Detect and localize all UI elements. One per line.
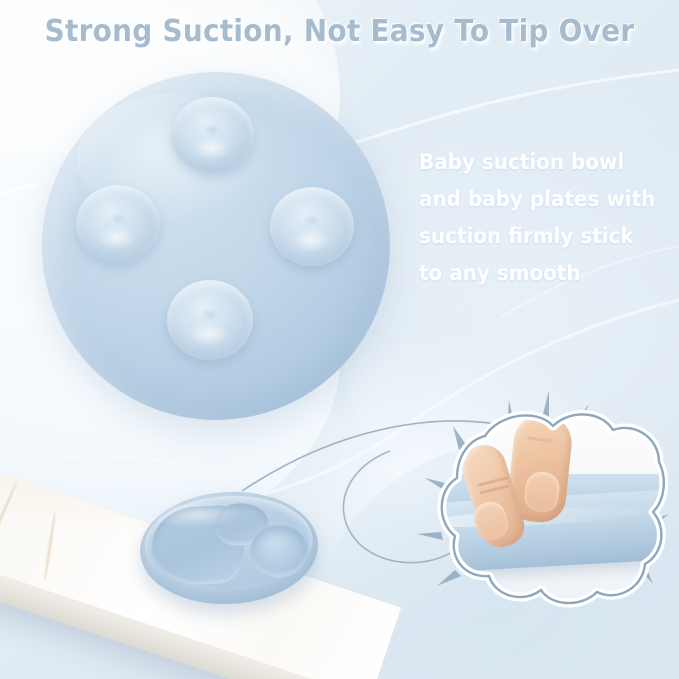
suction-cup-right: [270, 187, 354, 266]
suction-cup-top: [171, 97, 254, 173]
burst-ray: [437, 570, 461, 586]
product-image-canvas: Strong Suction, Not Easy To Tip Over Bab…: [0, 0, 679, 679]
divided-baby-plate: [137, 487, 321, 608]
page-title: Strong Suction, Not Easy To Tip Over: [24, 14, 655, 49]
burst-ray: [417, 532, 443, 540]
marble-vein: [0, 481, 18, 568]
burst-ray: [453, 426, 467, 450]
suction-cup-left: [76, 185, 160, 263]
suction-cup-bottom: [167, 280, 253, 360]
body-copy-line-4: to any smooth: [419, 255, 661, 292]
cloud-callout-bubble: [405, 398, 679, 628]
body-copy-line-1: Baby suction bowl: [419, 144, 661, 181]
body-copy-line-2: and baby plates with: [419, 181, 661, 218]
burst-ray: [425, 478, 449, 492]
body-copy-line-3: suction firmly stick: [419, 218, 661, 255]
marble-vein: [43, 511, 56, 581]
suction-base-product: [42, 72, 390, 420]
body-copy: Baby suction bowl and baby plates with s…: [419, 144, 661, 292]
